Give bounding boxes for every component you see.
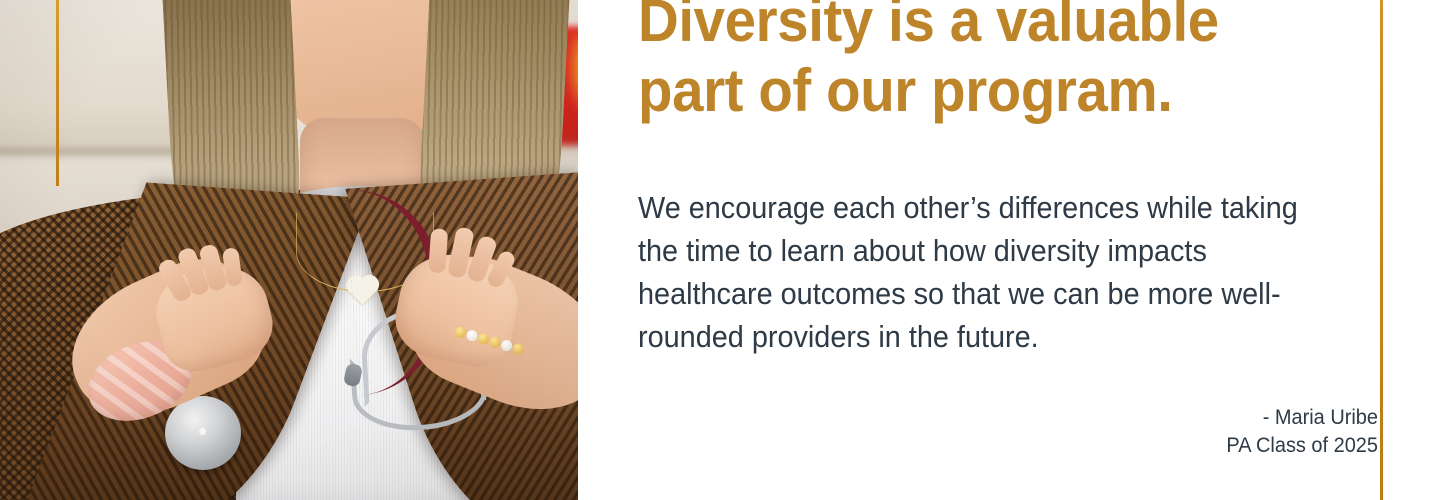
gold-accent-rule-left: [56, 0, 59, 186]
sharps-container-highlight: [566, 34, 578, 118]
attribution: - Maria Uribe PA Class of 2025: [979, 404, 1378, 460]
attribution-detail: PA Class of 2025: [979, 432, 1378, 460]
testimonial-banner: Diversity is a valuable part of our prog…: [0, 0, 1440, 500]
quote-panel: Diversity is a valuable part of our prog…: [578, 0, 1440, 500]
student-photo: [0, 0, 578, 500]
stethoscope-chestpiece: [165, 396, 241, 470]
quote-text: We encourage each other’s differences wh…: [638, 186, 1317, 358]
headline: Diversity is a valuable part of our prog…: [638, 0, 1296, 126]
attribution-name: - Maria Uribe: [979, 404, 1378, 432]
gold-accent-rule-right: [1380, 0, 1383, 500]
